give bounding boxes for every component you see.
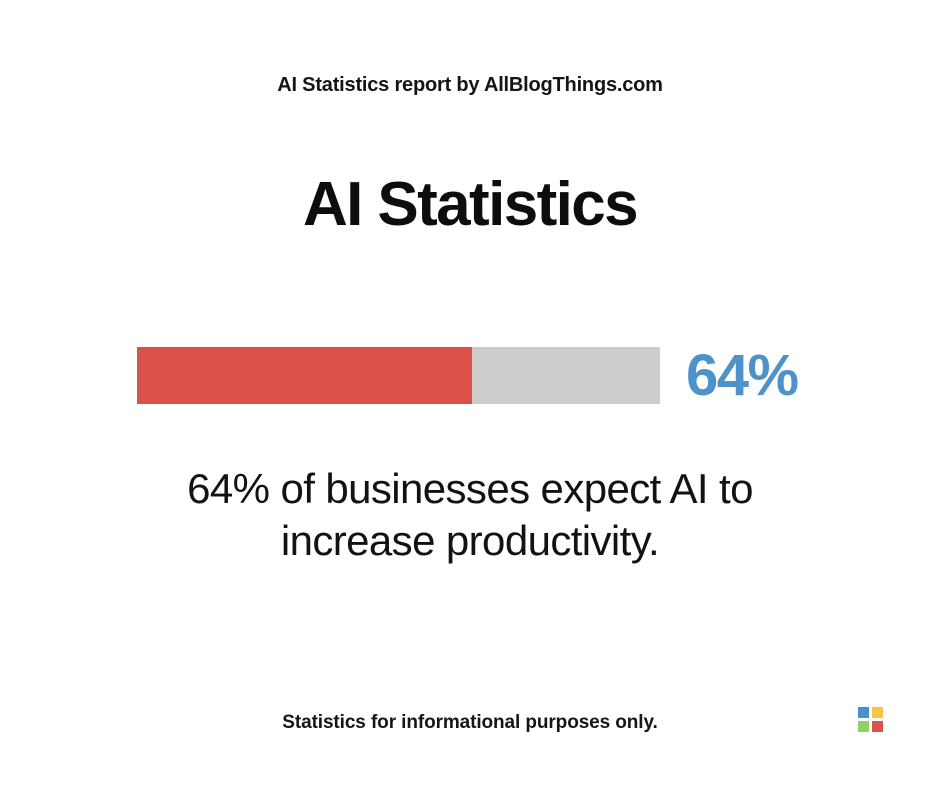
logo-square-top-left (858, 707, 869, 718)
infographic-card: AI Statistics report by AllBlogThings.co… (0, 0, 940, 788)
progress-bar-fill (137, 347, 472, 404)
progress-value-label: 64% (686, 347, 798, 405)
logo-square-bottom-left (858, 721, 869, 732)
footer: Statistics for informational purposes on… (0, 704, 940, 744)
page-title: AI Statistics (303, 174, 637, 236)
logo-square-top-right (872, 707, 883, 718)
statistic-bar-row: 64% (0, 347, 940, 405)
four-squares-logo (858, 707, 884, 733)
progress-bar-track (137, 347, 660, 404)
logo-square-bottom-right (872, 721, 883, 732)
disclaimer-text: Statistics for informational purposes on… (0, 712, 940, 734)
statistic-description: 64% of businesses expect AI to increase … (150, 463, 790, 569)
report-source-line: AI Statistics report by AllBlogThings.co… (277, 74, 663, 96)
